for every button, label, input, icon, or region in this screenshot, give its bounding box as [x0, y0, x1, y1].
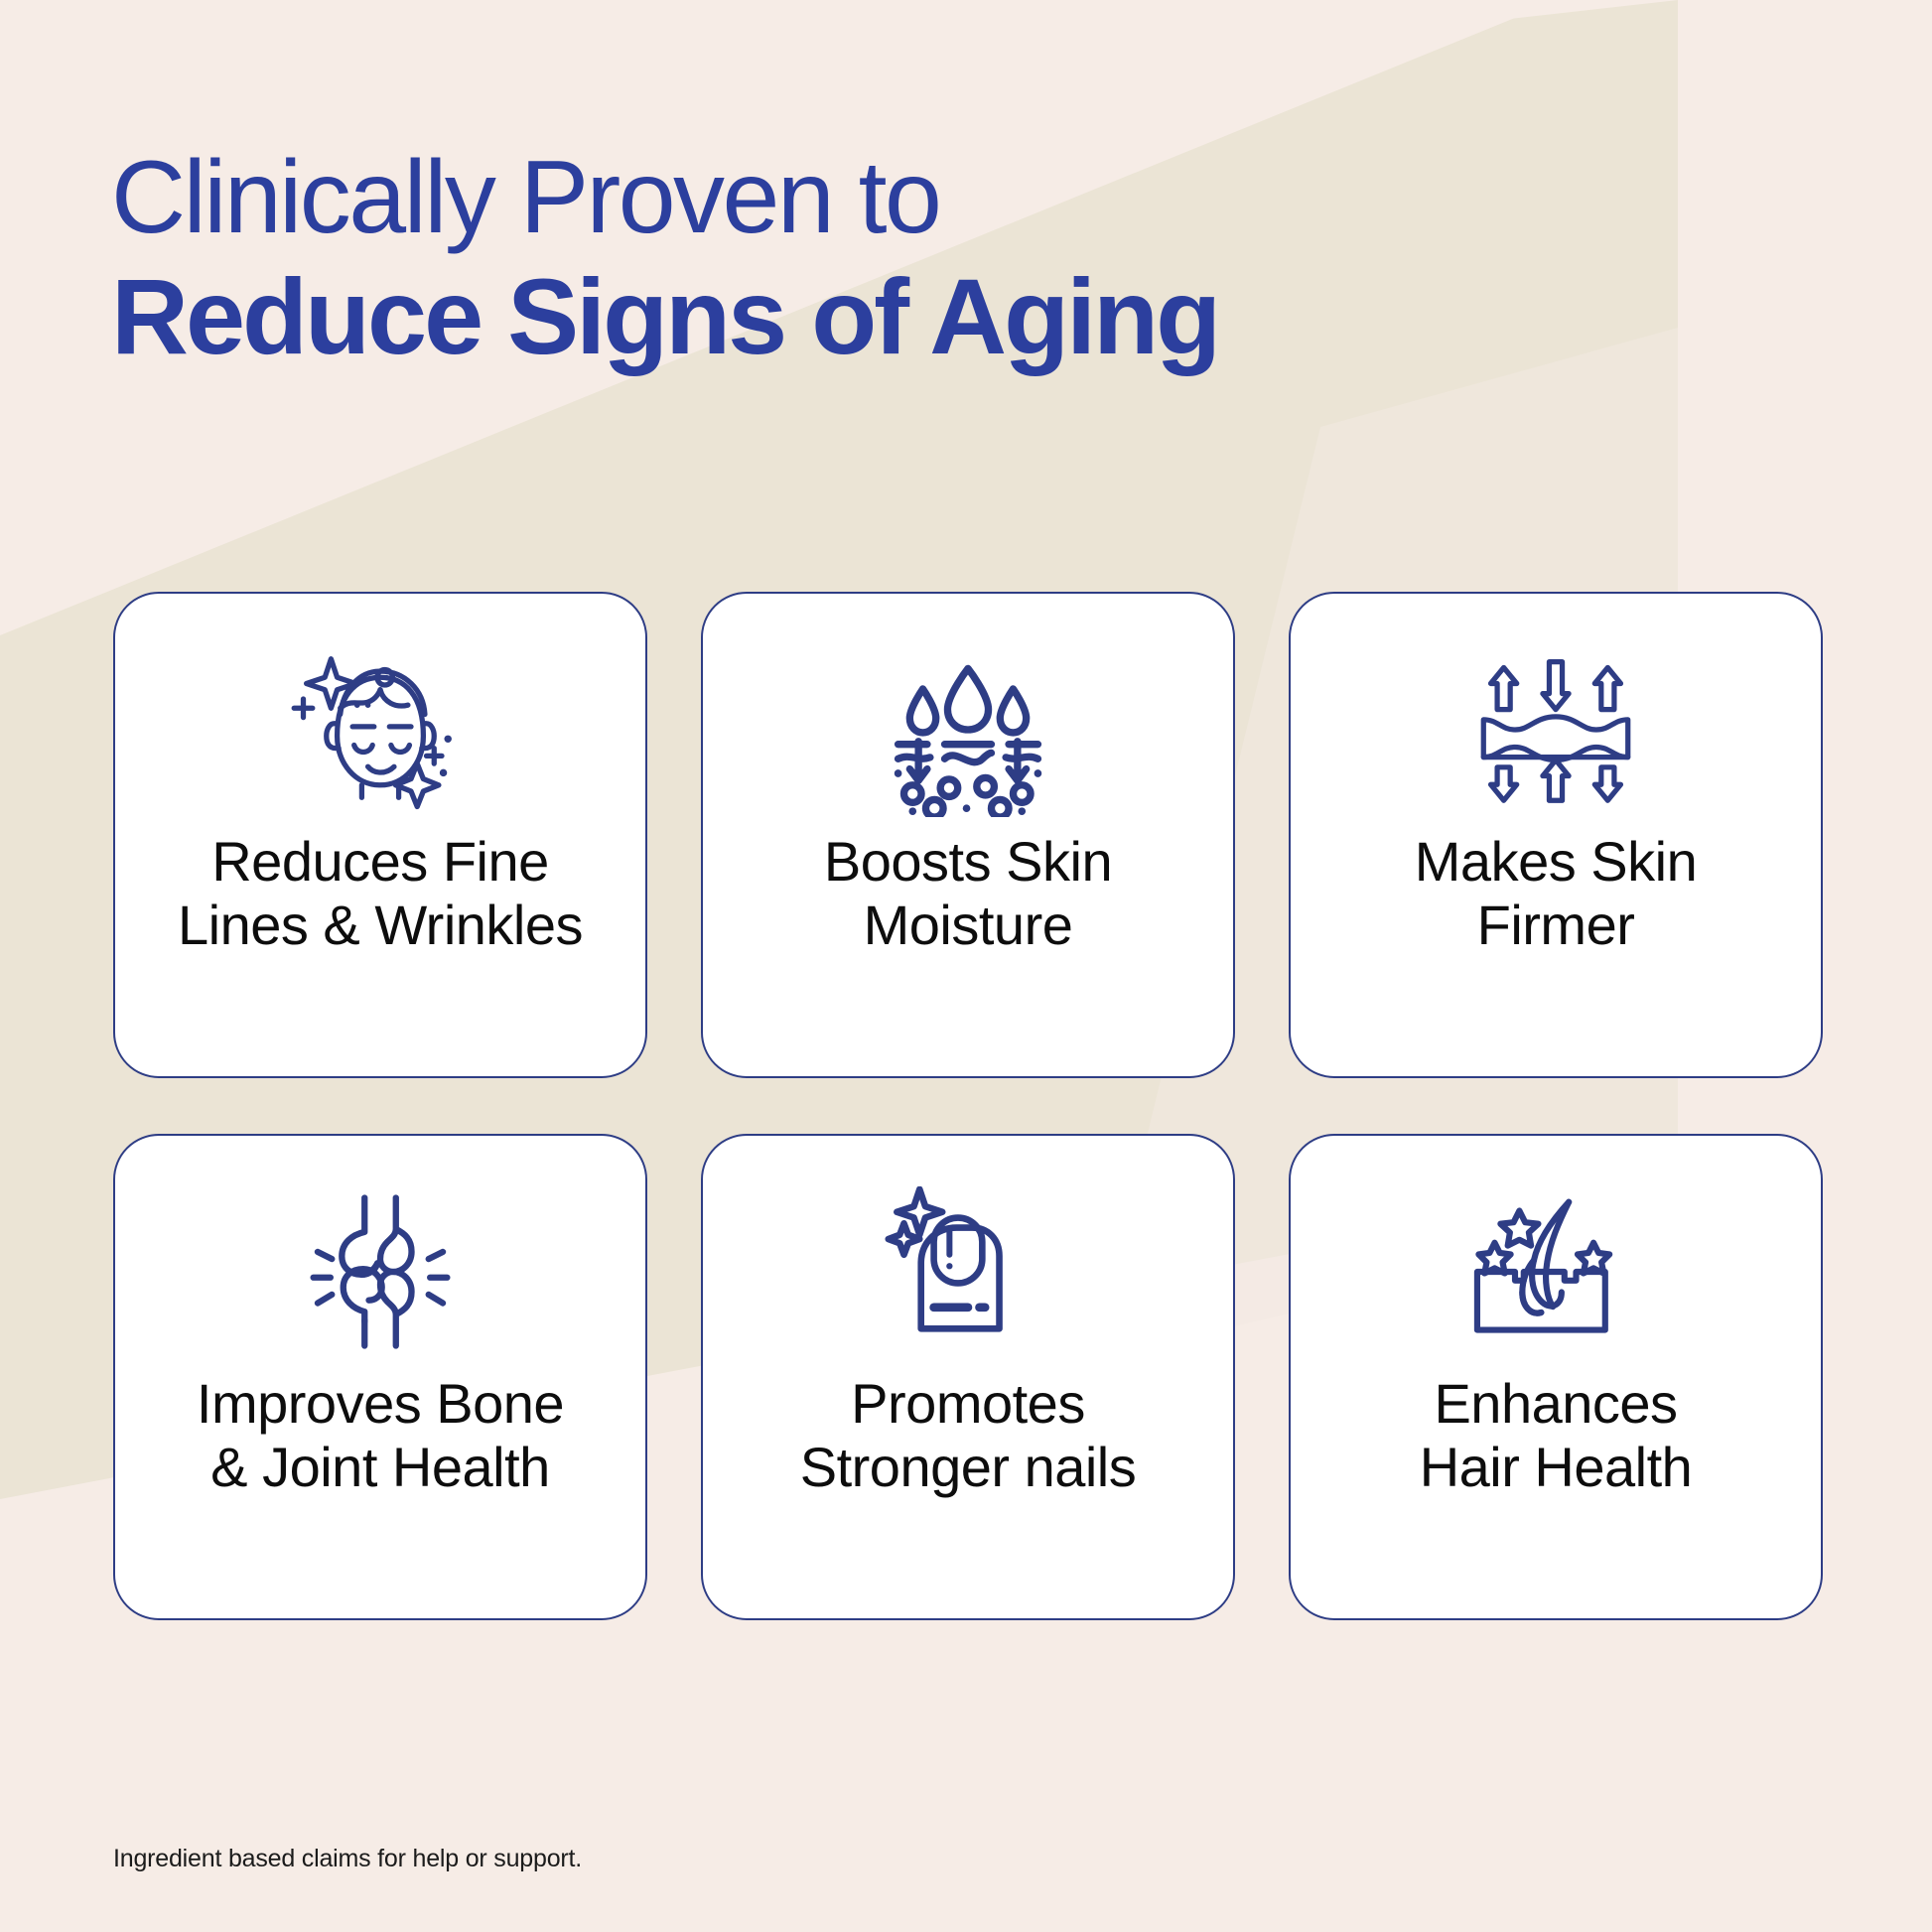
benefit-label-line-one: Boosts Skin	[824, 830, 1112, 893]
benefit-label-line-one: Makes Skin	[1415, 830, 1697, 893]
benefit-card-label: Makes Skin Firmer	[1399, 830, 1713, 957]
benefit-label-line-two: Hair Health	[1420, 1436, 1693, 1498]
benefit-label-line-one: Promotes	[851, 1372, 1085, 1435]
benefit-card-makes-skin-firmer[interactable]: Makes Skin Firmer	[1289, 592, 1823, 1078]
benefit-card-label: Improves Bone & Joint Health	[181, 1372, 580, 1499]
benefit-label-line-one: Reduces Fine	[211, 830, 549, 893]
benefit-card-improves-bone-joint-health[interactable]: Improves Bone & Joint Health	[113, 1134, 647, 1620]
benefit-card-reduces-fine-lines[interactable]: Reduces Fine Lines & Wrinkles	[113, 592, 647, 1078]
benefit-label-line-two: Lines & Wrinkles	[178, 894, 583, 956]
benefit-label-line-two: Firmer	[1477, 894, 1635, 956]
benefit-label-line-one: Enhances	[1434, 1372, 1677, 1435]
benefit-label-line-two: Moisture	[864, 894, 1073, 956]
title-line-two: Reduce Signs of Aging	[111, 253, 1218, 379]
benefit-card-label: Enhances Hair Health	[1404, 1372, 1709, 1499]
benefit-label-line-one: Improves Bone	[197, 1372, 564, 1435]
benefit-card-label: Reduces Fine Lines & Wrinkles	[162, 830, 599, 957]
hair-follicle-stars-icon	[1468, 1177, 1643, 1366]
benefit-card-promotes-stronger-nails[interactable]: Promotes Stronger nails	[701, 1134, 1235, 1620]
footnote-disclaimer: Ingredient based claims for help or supp…	[113, 1845, 582, 1873]
benefit-label-line-two: & Joint Health	[210, 1436, 550, 1498]
knee-joint-icon	[295, 1177, 466, 1366]
benefit-card-enhances-hair-health[interactable]: Enhances Hair Health	[1289, 1134, 1823, 1620]
benefit-card-label: Promotes Stronger nails	[784, 1372, 1153, 1499]
fingernail-sparkle-icon	[883, 1177, 1053, 1366]
page-title: Clinically Proven to Reduce Signs of Agi…	[111, 137, 1218, 379]
benefit-card-label: Boosts Skin Moisture	[808, 830, 1128, 957]
benefits-grid: Reduces Fine Lines & Wrinkles	[113, 592, 1823, 1620]
benefit-card-boosts-skin-moisture[interactable]: Boosts Skin Moisture	[701, 592, 1235, 1078]
benefit-label-line-two: Stronger nails	[800, 1436, 1137, 1498]
face-sparkle-icon	[288, 635, 473, 824]
title-line-one: Clinically Proven to	[111, 137, 1218, 259]
infographic-poster: Clinically Proven to Reduce Signs of Agi…	[0, 0, 1932, 1932]
water-droplets-skin-icon	[881, 635, 1055, 824]
skin-elasticity-arrows-icon	[1468, 635, 1643, 824]
